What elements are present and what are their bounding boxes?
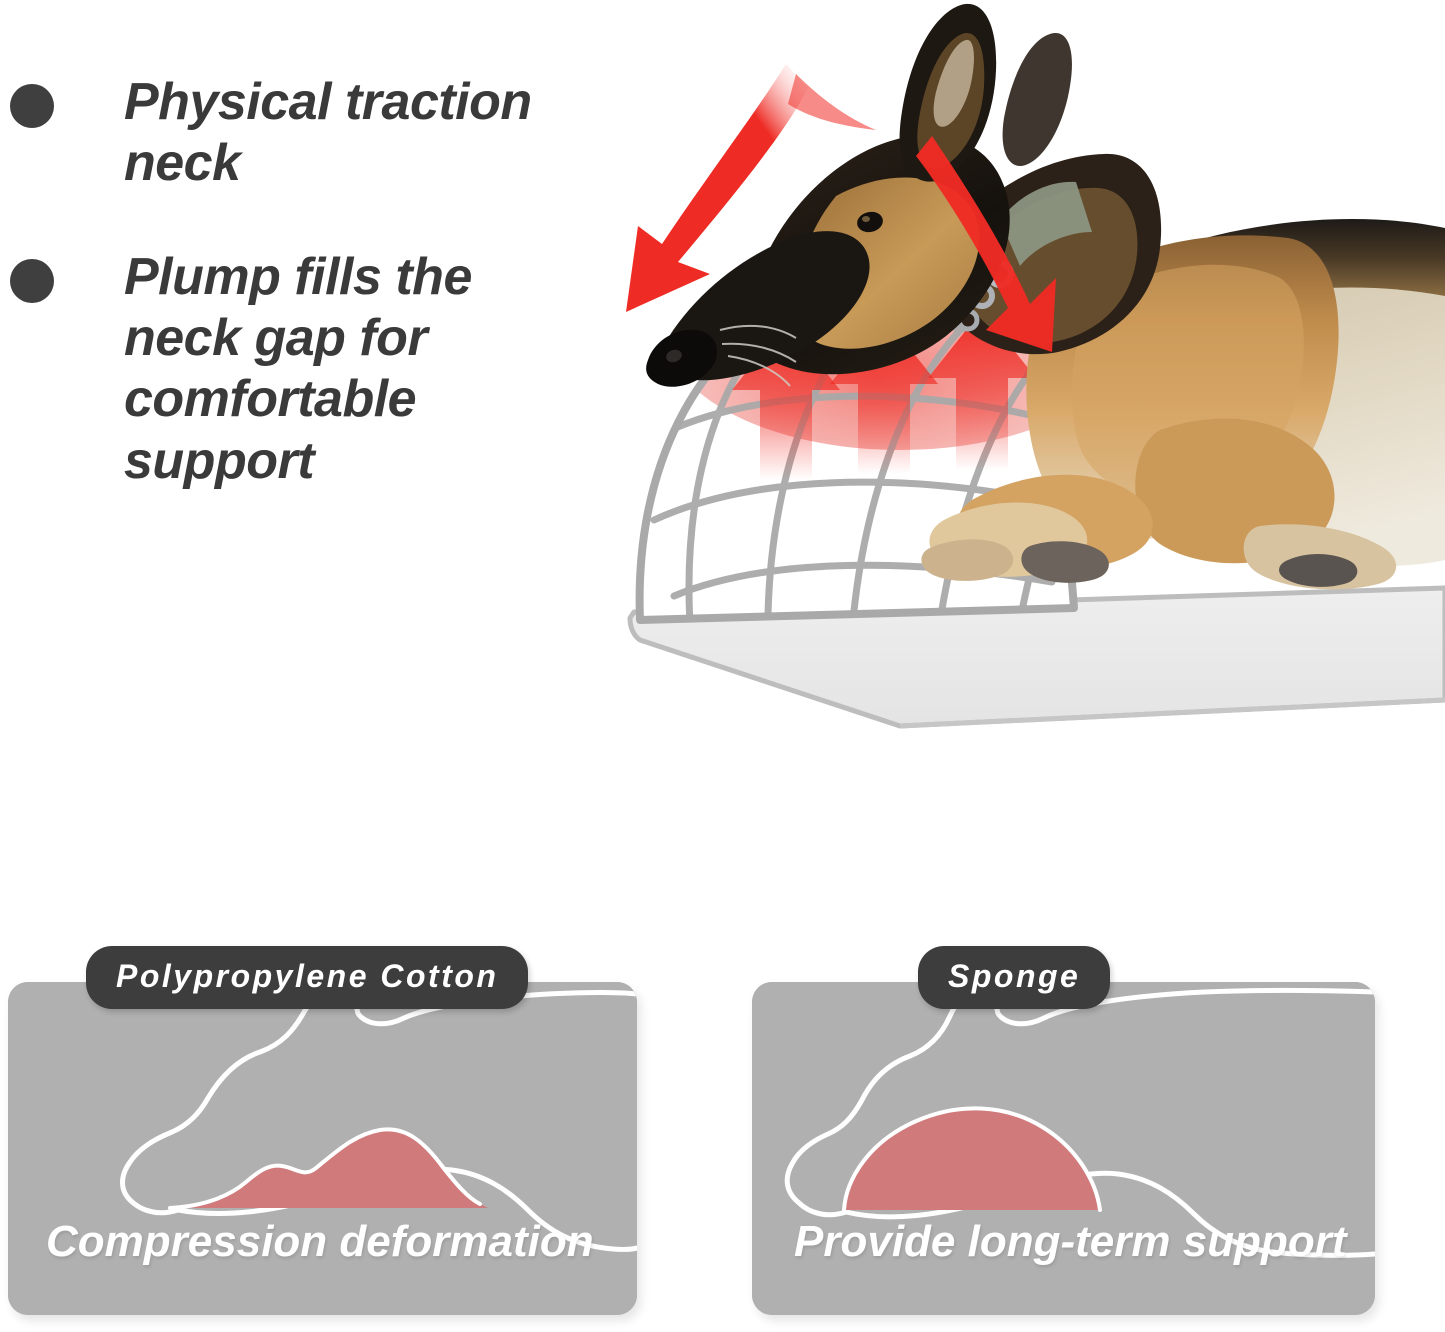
comparison-panel-sponge: Sponge Provide long-term support — [752, 982, 1375, 1315]
caption-compression-deformation: Compression deformation — [8, 1217, 637, 1267]
bullet-dot-icon — [10, 84, 54, 128]
feature-label-physical-traction-neck: Physical traction neck — [124, 72, 640, 195]
infographic-canvas: Physical traction neck Plump fills the n… — [0, 0, 1445, 1332]
badge-sponge: Sponge — [918, 946, 1110, 1009]
feature-bullet-item: Physical traction neck — [0, 72, 640, 195]
comparison-panel-polypropylene-cotton: Polypropylene Cotton Compression deforma… — [8, 982, 637, 1315]
feature-bullet-item: Plump fills the neck gap for comfortable… — [0, 247, 640, 492]
caption-provide-long-term-support: Provide long-term support — [752, 1217, 1375, 1267]
feature-label-plump-fills-neck-gap: Plump fills the neck gap for comfortable… — [124, 247, 594, 492]
hero-illustration — [600, 0, 1445, 880]
bullet-dot-icon — [10, 259, 54, 303]
feature-bullet-list: Physical traction neck Plump fills the n… — [0, 72, 640, 544]
material-comparison-section: Polypropylene Cotton Compression deforma… — [0, 940, 1445, 1332]
badge-polypropylene-cotton: Polypropylene Cotton — [86, 946, 528, 1009]
